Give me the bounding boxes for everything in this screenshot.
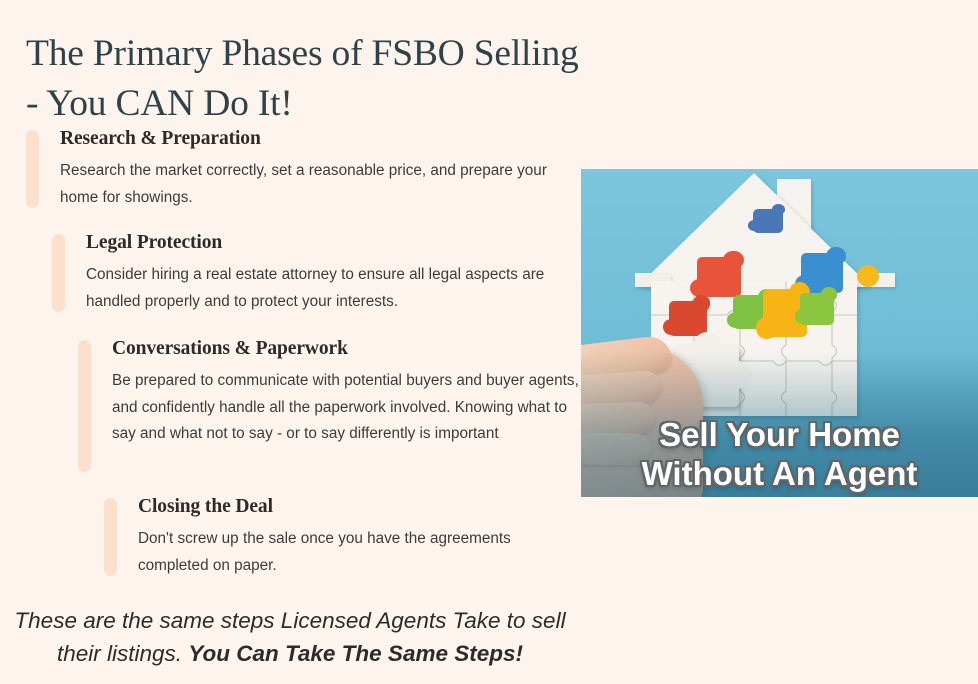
puzzle-piece-green-right: [800, 293, 834, 325]
step-description: Consider hiring a real estate attorney t…: [86, 262, 586, 315]
step-accent-bar: [104, 498, 117, 576]
photo-caption-line-1: Sell Your Home: [581, 415, 978, 454]
step-accent-bar: [52, 234, 65, 312]
step-item-conversations-paperwork: Conversations & Paperwork Be prepared to…: [0, 336, 600, 356]
puzzle-house-photo: Sell Your Home Without An Agent: [581, 169, 978, 497]
photo-caption: Sell Your Home Without An Agent: [581, 415, 978, 493]
puzzle-piece-red-house: [669, 301, 707, 336]
page-title: The Primary Phases of FSBO Selling - You…: [26, 29, 586, 129]
step-accent-bar: [26, 130, 39, 208]
step-content: Closing the Deal Don't screw up the sale…: [138, 494, 578, 579]
photo-caption-line-2: Without An Agent: [581, 454, 978, 493]
step-heading: Closing the Deal: [138, 494, 578, 520]
puzzle-piece-sun: [857, 265, 879, 287]
footer-note: These are the same steps Licensed Agents…: [0, 604, 580, 670]
step-accent-bar: [78, 340, 91, 472]
step-content: Research & Preparation Research the mark…: [60, 126, 570, 211]
step-item-legal-protection: Legal Protection Consider hiring a real …: [0, 230, 600, 250]
step-description: Don't screw up the sale once you have th…: [138, 526, 578, 579]
step-heading: Legal Protection: [86, 230, 586, 256]
step-description: Be prepared to communicate with potentia…: [112, 368, 587, 448]
step-heading: Conversations & Paperwork: [112, 336, 587, 362]
step-item-research-preparation: Research & Preparation Research the mark…: [0, 126, 600, 146]
step-item-closing-the-deal: Closing the Deal Don't screw up the sale…: [0, 494, 600, 514]
step-description: Research the market correctly, set a rea…: [60, 158, 570, 211]
puzzle-piece-red: [697, 257, 741, 297]
puzzle-piece-blue-small: [753, 209, 783, 233]
step-content: Legal Protection Consider hiring a real …: [86, 230, 586, 315]
step-content: Conversations & Paperwork Be prepared to…: [112, 336, 587, 448]
step-heading: Research & Preparation: [60, 126, 570, 152]
footer-note-bold: You Can Take The Same Steps!: [188, 641, 523, 666]
